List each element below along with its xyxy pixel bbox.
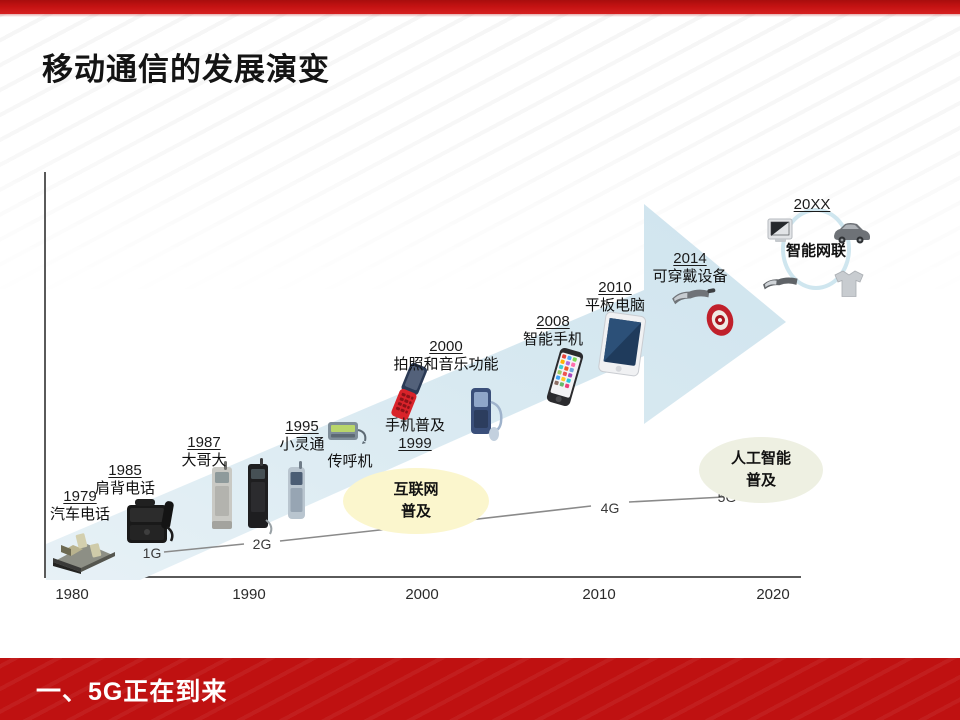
shoulder-phone-icon xyxy=(119,493,185,551)
callout-ai: 人工智能 普及 xyxy=(699,437,823,503)
milestone-name: 可穿戴设备 xyxy=(652,268,727,286)
callout-line-1: 互联网 xyxy=(393,479,438,502)
generation-label-4g: 4G xyxy=(601,500,620,516)
smartphone-icon xyxy=(545,346,585,408)
bottom-red-bar: 一、5G正在到来 xyxy=(0,658,960,720)
page-title: 移动通信的发展演变 xyxy=(42,44,330,89)
phs-phone-icon xyxy=(281,461,311,523)
milestone-name: 大哥大 xyxy=(181,452,226,470)
milestone-1987: 1987 大哥大 xyxy=(181,434,226,469)
generation-label-2g: 2G xyxy=(253,536,272,552)
x-tick-3: 2010 xyxy=(582,586,615,603)
milestone-year: 1999 xyxy=(385,435,445,453)
milestone-year: 1985 xyxy=(95,462,155,480)
brick-phone-icon-dark xyxy=(239,458,277,538)
milestone-year: 1995 xyxy=(279,418,324,436)
car-icon xyxy=(830,220,872,244)
x-tick-0: 1980 xyxy=(55,586,88,603)
section-title: 一、5G正在到来 xyxy=(36,672,227,708)
brick-phone-icon-light xyxy=(202,459,242,537)
milestone-year: 2010 xyxy=(585,279,645,297)
milestone-year: 2000 xyxy=(393,338,498,356)
milestone-name: 手机普及 xyxy=(385,417,445,435)
pager-label: 传呼机 xyxy=(327,453,372,471)
x-tick-4: 2020 xyxy=(756,586,789,603)
milestone-2008: 2008 智能手机 xyxy=(523,313,583,348)
milestone-name: 智能手机 xyxy=(523,331,583,349)
tshirt-icon xyxy=(831,268,867,300)
x-tick-1: 1990 xyxy=(232,586,265,603)
top-red-bar xyxy=(0,0,960,14)
tablet-icon xyxy=(594,310,650,380)
milestone-name: 小灵通 xyxy=(279,436,324,454)
pager-icon xyxy=(325,416,369,448)
slide-canvas: 移动通信的发展演变 1980 1990 2000 2010 2020 1G 2G… xyxy=(0,0,960,720)
milestone-20xx: 20XX xyxy=(794,196,831,214)
camera-music-phone-icon xyxy=(463,382,513,446)
milestone-year: 2014 xyxy=(652,250,727,268)
callout-internet: 互联网 普及 xyxy=(343,468,489,534)
x-tick-2: 2000 xyxy=(405,586,438,603)
milestone-1985: 1985 肩背电话 xyxy=(95,462,155,497)
milestone-name: 汽车电话 xyxy=(50,506,110,524)
smart-watch-icon xyxy=(703,301,737,339)
callout-line-2: 普及 xyxy=(746,470,776,493)
callout-line-1: 人工智能 xyxy=(731,448,791,471)
milestone-year: 20XX xyxy=(794,196,831,214)
milestone-2014: 2014 可穿戴设备 xyxy=(652,250,727,285)
callout-line-2: 普及 xyxy=(401,501,431,524)
milestone-2010: 2010 平板电脑 xyxy=(585,279,645,314)
milestone-1999: 手机普及 1999 xyxy=(385,417,445,452)
milestone-2000: 2000 拍照和音乐功能 xyxy=(393,338,498,373)
milestone-name: 肩背电话 xyxy=(95,480,155,498)
monitor-icon xyxy=(765,217,797,245)
top-bar-shadow xyxy=(0,14,960,17)
milestone-year: 1987 xyxy=(181,434,226,452)
car-phone-icon xyxy=(47,522,119,574)
milestone-1995: 1995 小灵通 xyxy=(279,418,324,453)
milestone-year: 2008 xyxy=(523,313,583,331)
milestone-name: 平板电脑 xyxy=(585,297,645,315)
milestone-name: 拍照和音乐功能 xyxy=(393,356,498,374)
pager-label-text: 传呼机 xyxy=(327,453,372,471)
ar-glasses-icon xyxy=(760,272,802,294)
